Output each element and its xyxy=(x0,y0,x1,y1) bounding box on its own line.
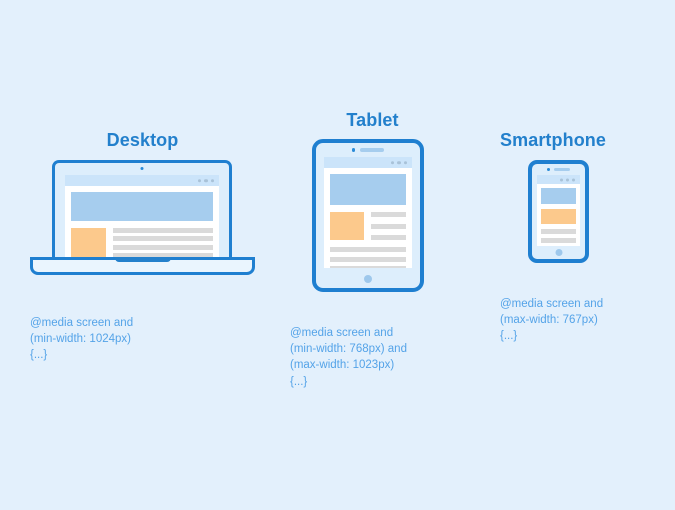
laptop-hinge-notch xyxy=(115,257,171,262)
text-line xyxy=(330,257,406,262)
home-button-icon xyxy=(555,249,562,256)
text-lines-group-lower xyxy=(330,247,406,268)
thumbnail-block xyxy=(541,209,576,224)
window-control-dots-icon xyxy=(560,178,575,181)
window-dot-3-icon xyxy=(404,161,408,165)
device-column-smartphone: Smartphone xyxy=(500,130,665,345)
smartphone-icon xyxy=(528,160,589,263)
window-dot-3-icon xyxy=(572,178,575,181)
text-line xyxy=(371,224,406,229)
thumbnail-block xyxy=(71,228,106,258)
hero-block xyxy=(330,174,406,205)
camera-dot-icon xyxy=(352,148,356,152)
device-column-tablet: Tablet xyxy=(290,110,455,390)
laptop-icon xyxy=(30,160,255,280)
text-line xyxy=(330,266,406,268)
speaker-grille-icon xyxy=(360,148,384,152)
text-line xyxy=(371,235,406,240)
heading-smartphone: Smartphone xyxy=(500,130,665,151)
wireframe-page-tablet xyxy=(324,168,412,268)
text-lines-group xyxy=(371,212,406,240)
text-lines-group xyxy=(541,229,576,243)
wireframe-page-phone xyxy=(537,184,580,246)
heading-tablet: Tablet xyxy=(290,110,455,131)
camera-dot-icon xyxy=(547,168,550,171)
content-row xyxy=(71,228,213,258)
text-line xyxy=(371,212,406,217)
webcam-dot-icon xyxy=(141,167,144,170)
phone-screen-content xyxy=(537,175,580,246)
content-row xyxy=(330,212,406,240)
text-line xyxy=(541,238,576,243)
tablet-icon xyxy=(312,139,424,292)
laptop-screen-content xyxy=(65,175,219,259)
device-column-desktop: Desktop xyxy=(30,130,255,364)
window-control-dots-icon xyxy=(198,179,215,183)
tablet-top-bar xyxy=(316,148,420,152)
hero-block xyxy=(541,188,576,204)
tablet-screen-content xyxy=(324,157,412,268)
window-dot-2-icon xyxy=(397,161,401,165)
text-line xyxy=(541,229,576,234)
text-line xyxy=(113,228,213,233)
text-line xyxy=(330,247,406,252)
laptop-lid xyxy=(52,160,232,259)
window-dot-1-icon xyxy=(560,178,563,181)
browser-toolbar xyxy=(537,175,580,184)
caption-tablet: @media screen and (min-width: 768px) and… xyxy=(290,325,455,390)
text-lines-group xyxy=(113,228,213,258)
thumbnail-block xyxy=(330,212,364,240)
heading-desktop: Desktop xyxy=(30,130,255,151)
diagram-canvas: Desktop xyxy=(0,0,675,510)
text-line xyxy=(113,245,213,250)
wireframe-page-desktop xyxy=(65,186,219,259)
window-dot-2-icon xyxy=(566,178,569,181)
window-dot-1-icon xyxy=(198,179,202,183)
browser-toolbar xyxy=(324,157,412,168)
phone-top-bar xyxy=(532,168,585,171)
browser-toolbar xyxy=(65,175,219,186)
hero-block xyxy=(71,192,213,221)
window-dot-1-icon xyxy=(391,161,395,165)
caption-desktop: @media screen and (min-width: 1024px) {.… xyxy=(30,315,255,364)
window-dot-3-icon xyxy=(211,179,215,183)
speaker-grille-icon xyxy=(554,168,570,171)
window-control-dots-icon xyxy=(391,161,408,165)
caption-smartphone: @media screen and (max-width: 767px) {..… xyxy=(500,296,665,345)
text-line xyxy=(113,236,213,241)
home-button-icon xyxy=(364,275,372,283)
window-dot-2-icon xyxy=(204,179,208,183)
